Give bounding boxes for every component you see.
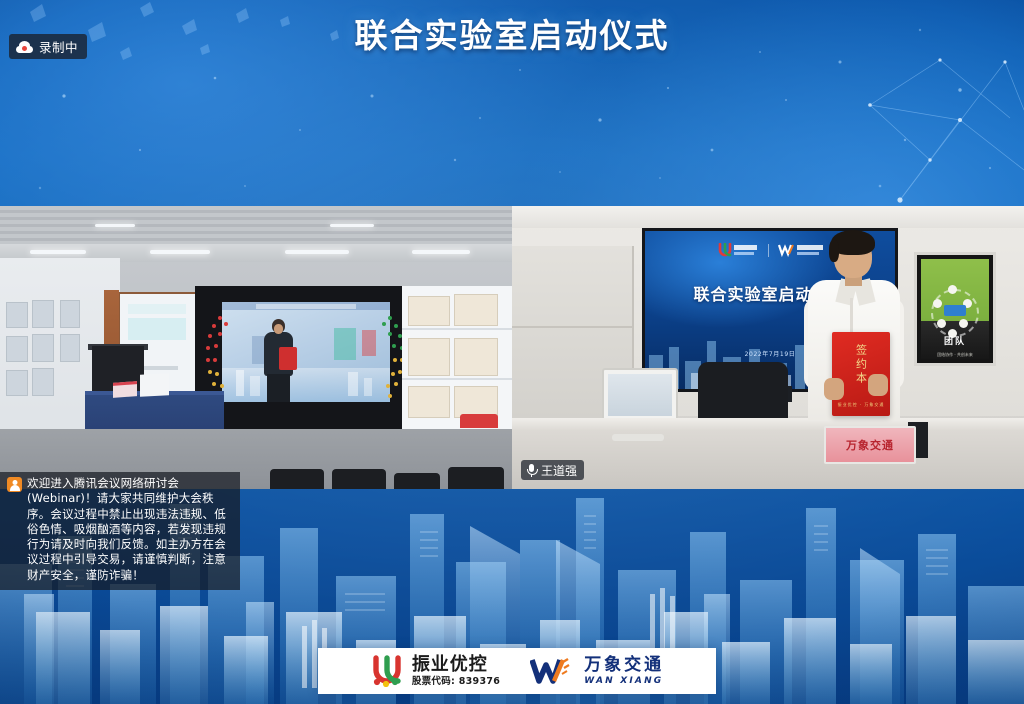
wanxiang-w-logo-icon <box>530 656 576 686</box>
desk-nameplate: 万象交通 <box>824 426 916 464</box>
projection-screen <box>222 302 390 402</box>
slide-wanxiang-logo-icon <box>778 243 824 257</box>
desk-monitor <box>602 368 678 422</box>
brand-wanxiang: 万象交通 WAN XIANG <box>530 656 664 686</box>
poster-title: 团队 <box>917 334 993 347</box>
booklet-subtext: 振业优控 · 万象交通 <box>838 402 885 408</box>
zhenye-u-logo-icon <box>370 655 404 687</box>
recording-status-badge: 录制中 <box>9 34 87 59</box>
conference-room-scene <box>0 206 512 489</box>
zhenye-name: 振业优控 <box>412 656 500 674</box>
slide-zhenye-logo-icon <box>717 243 759 257</box>
sponsor-logo-bar: 振业优控 股票代码: 839376 万象交通 WAN XIANG <box>318 648 716 694</box>
booklet-text: 签约本 <box>854 344 869 386</box>
page-title: 联合实验室启动仪式 <box>0 9 1024 57</box>
brand-zhenye: 振业优控 股票代码: 839376 <box>370 655 500 687</box>
wanxiang-name: 万象交通 <box>584 657 664 674</box>
participant-name: 王道强 <box>541 462 577 479</box>
cloud-record-icon <box>16 41 33 53</box>
notice-text: 欢迎进入腾讯会议网络研讨会(Webinar)！请大家共同维护大会秩序。会议过程中… <box>27 476 232 583</box>
webinar-notice-overlay[interactable]: 欢迎进入腾讯会议网络研讨会(Webinar)！请大家共同维护大会秩序。会议过程中… <box>0 472 240 590</box>
wanxiang-pinyin: WAN XIANG <box>584 677 664 686</box>
nameplate-text: 万象交通 <box>846 437 894 453</box>
zhenye-stock-code: 股票代码: 839376 <box>412 677 500 687</box>
studio-scene: 联合实验室启动仪式 2022年7月19日 团队 团 <box>512 206 1024 489</box>
recording-label: 录制中 <box>39 37 78 56</box>
video-tile-left[interactable] <box>0 206 512 489</box>
microphone-icon <box>526 464 537 477</box>
participant-name-tag: 王道强 <box>521 460 584 480</box>
poster-subtitle: 团结协作 · 共创未来 <box>917 352 993 358</box>
wall-poster: 团队 团结协作 · 共创未来 <box>914 252 996 366</box>
video-grid: 联合实验室启动仪式 2022年7月19日 团队 团 <box>0 206 1024 489</box>
video-tile-right[interactable]: 联合实验室启动仪式 2022年7月19日 团队 团 <box>512 206 1024 489</box>
meeting-stage: 联合实验室启动仪式 录制中 <box>0 0 1024 704</box>
user-avatar-icon <box>7 477 22 492</box>
